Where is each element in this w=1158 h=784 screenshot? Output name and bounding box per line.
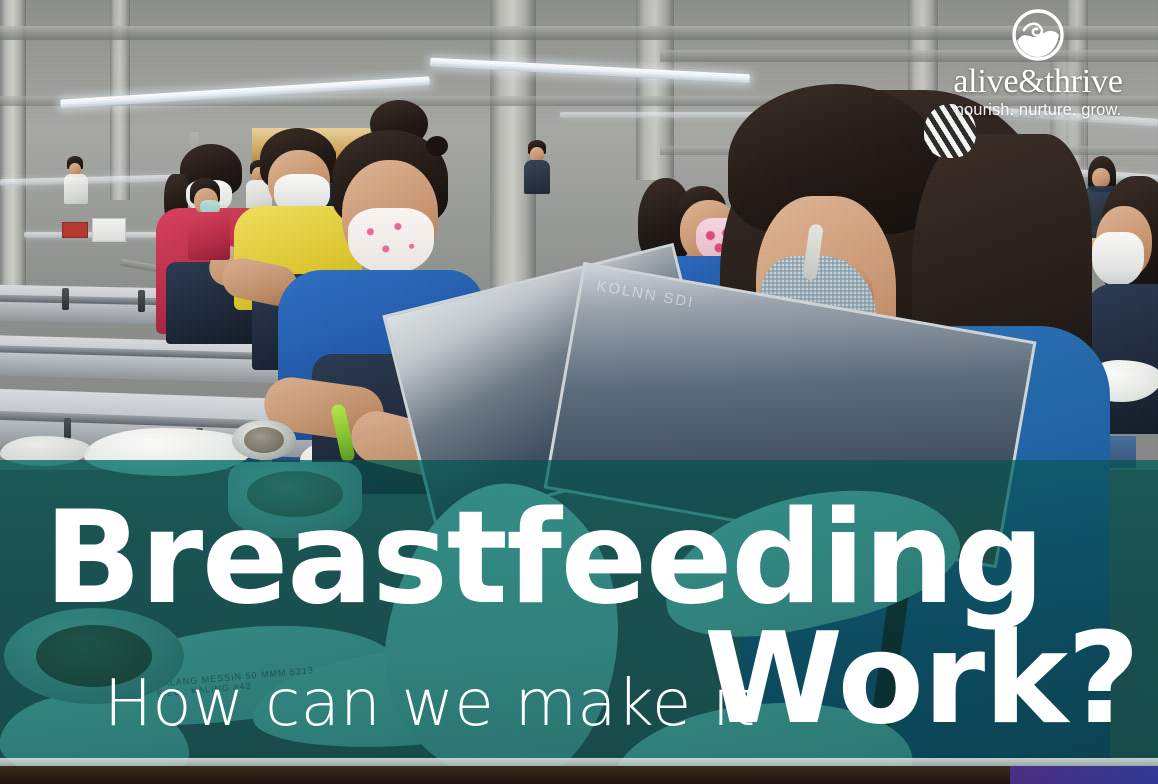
alive-and-thrive-circle-swirl-logo (1011, 8, 1065, 62)
headline-kicker: How can we make it (104, 672, 756, 736)
brand-wordmark: alive&thrive (940, 64, 1136, 100)
title-slide: HUNEX HUNEX KOLNN SDI KALANG MESSIN 50 M… (0, 0, 1158, 784)
headline-line-1: Breastfeeding (44, 495, 1043, 623)
headline-line-2: Work? (704, 616, 1139, 742)
brand-logo[interactable]: alive&thrive nourish. nurture. grow. (940, 8, 1136, 119)
brand-tagline: nourish. nurture. grow. (940, 101, 1136, 119)
